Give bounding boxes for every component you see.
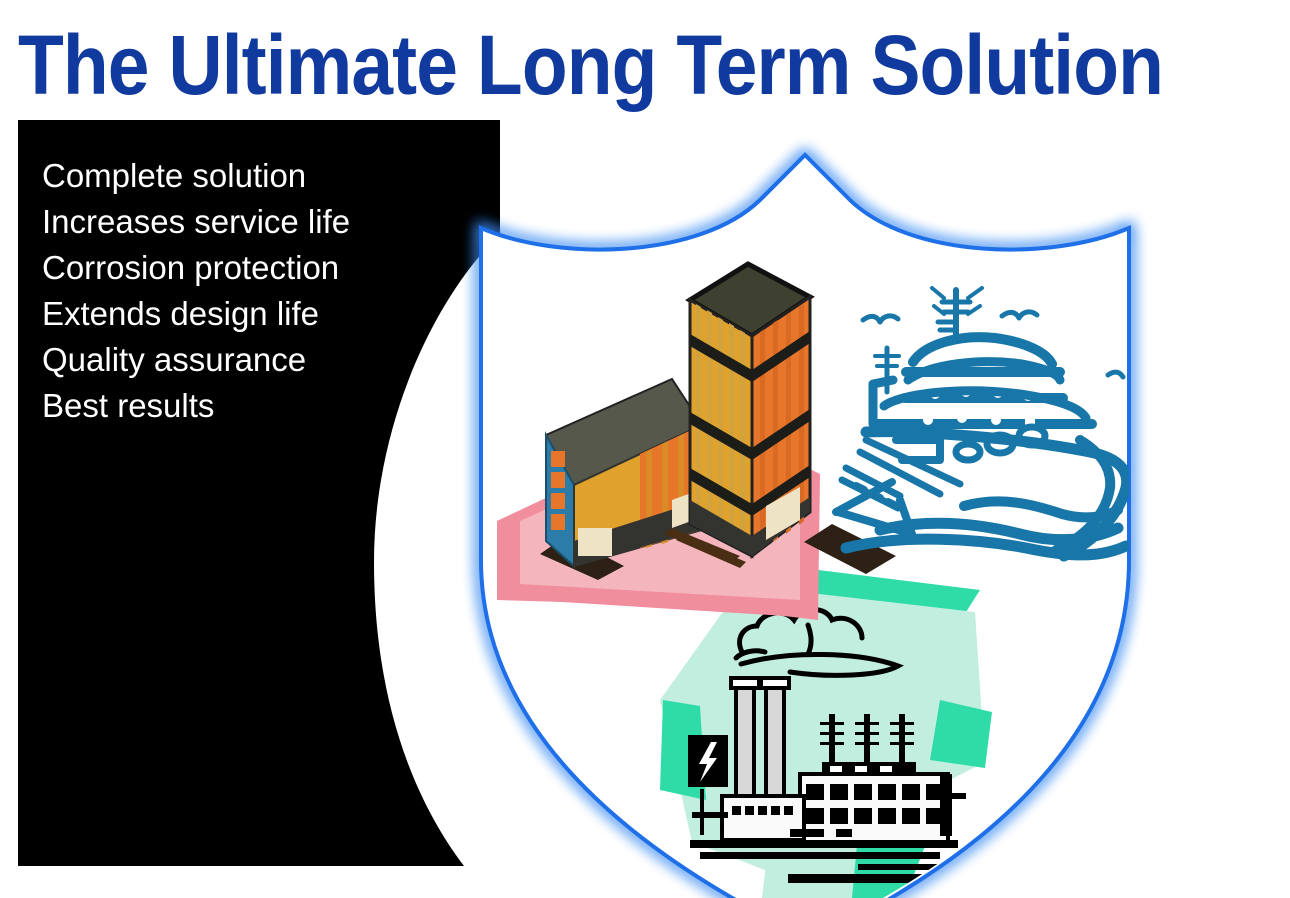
mint-wedge-right <box>930 700 992 768</box>
transmission-towers <box>820 714 916 776</box>
list-item: Quality assurance <box>42 341 306 378</box>
list-item: Complete solution <box>42 157 306 194</box>
list-item: Best results <box>42 387 214 424</box>
tower-block <box>690 264 810 556</box>
list-item: Extends design life <box>42 295 319 332</box>
slide-canvas: The Ultimate Long Term Solution Complete… <box>0 0 1290 898</box>
slide-graphics: The Ultimate Long Term Solution Complete… <box>0 0 1290 898</box>
list-item: Corrosion protection <box>42 249 339 286</box>
page-title: The Ultimate Long Term Solution <box>18 18 1163 112</box>
list-item: Increases service life <box>42 203 350 240</box>
